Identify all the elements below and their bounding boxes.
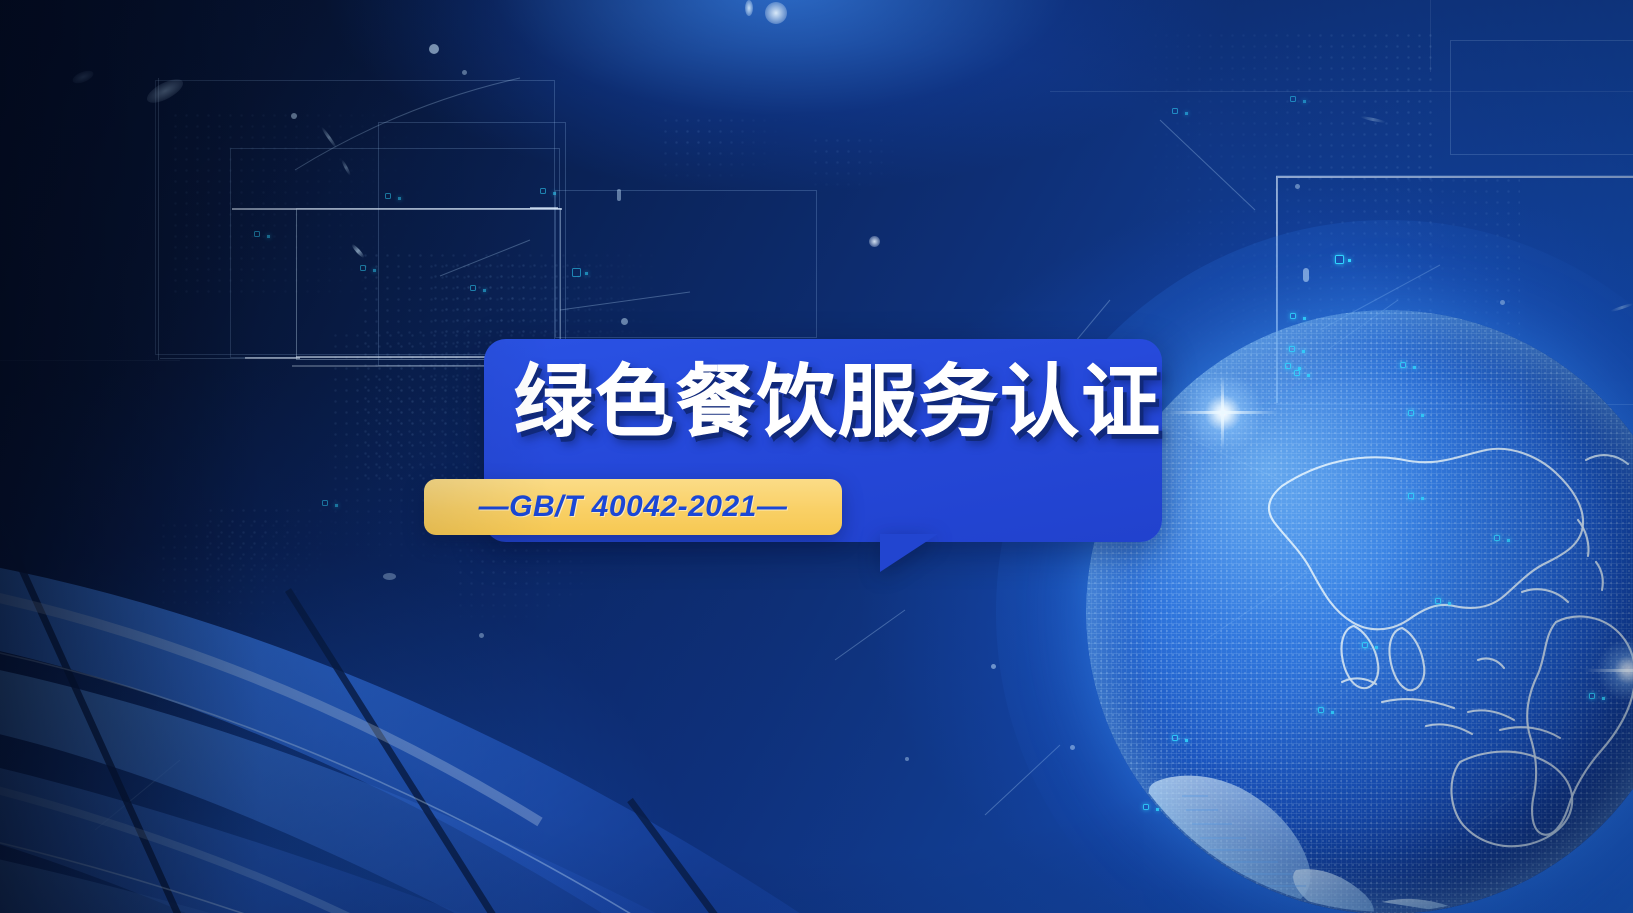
cyan-node-marker [1408,410,1414,416]
standard-code-label: —GB/T 40042-2021— [479,490,788,524]
cyan-node-marker [254,231,260,237]
light-particle [429,44,439,54]
cyan-node-marker [1143,804,1149,810]
cyan-node-marker [1290,313,1296,319]
cyan-node-marker [1589,693,1595,699]
cyan-node-marker [1494,535,1500,541]
cyan-node-marker [385,193,391,199]
cyan-node-marker [1290,96,1296,102]
light-particle [617,189,621,201]
cyan-node-marker [1435,598,1441,604]
cyan-node-marker [1285,363,1291,369]
cyan-node-marker [540,188,546,194]
cyan-node-marker [1172,735,1178,741]
light-particle [1295,184,1300,189]
light-particle [1500,300,1505,305]
cyan-node-marker [360,265,366,271]
digital-wireframe-earth [1086,310,1633,913]
light-particle [745,0,753,16]
light-particle [291,113,297,119]
cyan-node-marker [1294,370,1300,376]
light-particle [1070,745,1075,750]
cyan-node-marker [1408,493,1414,499]
light-particle [869,236,880,247]
cyan-node-marker [1172,108,1178,114]
cyan-node-marker [1335,255,1344,264]
cyan-node-marker [1318,707,1324,713]
speech-bubble-tail [880,534,938,572]
light-particle [462,70,467,75]
banner-stage: 绿色餐饮服务认证 —GB/T 40042-2021— [0,0,1633,913]
standard-code-badge: —GB/T 40042-2021— [424,479,842,535]
cyan-node-marker [572,268,581,277]
light-particle [621,318,628,325]
light-particle [765,2,787,24]
lens-flare-starburst [1584,669,1633,672]
lens-flare-starburst [1221,376,1224,450]
page-title: 绿色餐饮服务认证 [514,362,1134,441]
cyan-node-marker [1400,362,1406,368]
cyan-node-marker [1289,346,1295,352]
cyan-node-marker [470,285,476,291]
cyan-node-marker [1362,642,1368,648]
light-particle [1303,268,1309,282]
